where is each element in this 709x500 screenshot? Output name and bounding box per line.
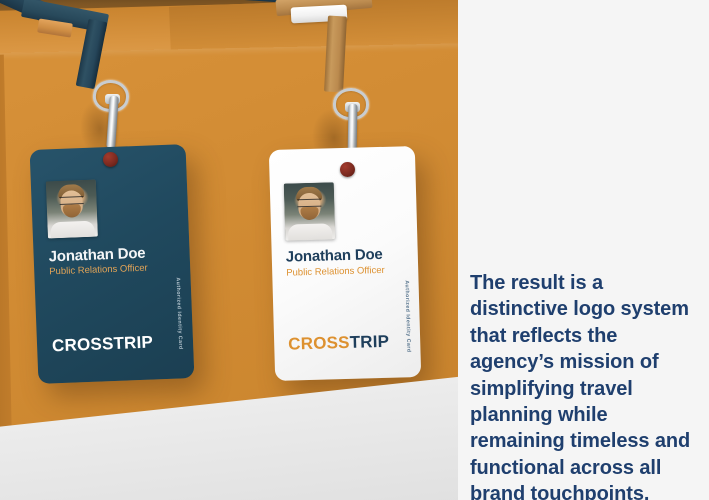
badge-logo-light-cross: CROSS — [288, 333, 350, 354]
copy-panel: The result is a distinctive logo system … — [458, 0, 709, 500]
badge-vertical-note-dark: Authorized Identity Card — [175, 277, 184, 349]
badge-rivet-right-icon — [340, 162, 355, 177]
badge-card-dark: Jonathan Doe Public Relations Officer Au… — [30, 144, 195, 384]
badge-logo-light: CROSSTRIP — [288, 332, 390, 355]
badge-mockup-image: Jonathan Doe Public Relations Officer Au… — [0, 0, 458, 500]
badge-photo-light — [284, 182, 336, 240]
badge-photo-dark — [46, 180, 98, 239]
badge-name-light: Jonathan Doe — [286, 246, 383, 266]
badge-title-light: Public Relations Officer — [286, 265, 385, 279]
slide-canvas: Jonathan Doe Public Relations Officer Au… — [0, 0, 709, 500]
badge-vertical-note-light: Authorized Identity Card — [403, 280, 411, 352]
badge-logo-light-trip: TRIP — [349, 332, 389, 352]
body-paragraph: The result is a distinctive logo system … — [470, 270, 698, 500]
badge-rivet-left-icon — [103, 152, 118, 167]
badge-card-light: Jonathan Doe Public Relations Officer Au… — [269, 146, 421, 381]
badge-title-dark: Public Relations Officer — [49, 263, 148, 278]
lanyard-right-drop — [324, 16, 347, 93]
badge-logo-dark: CROSSTRIP — [52, 332, 154, 356]
